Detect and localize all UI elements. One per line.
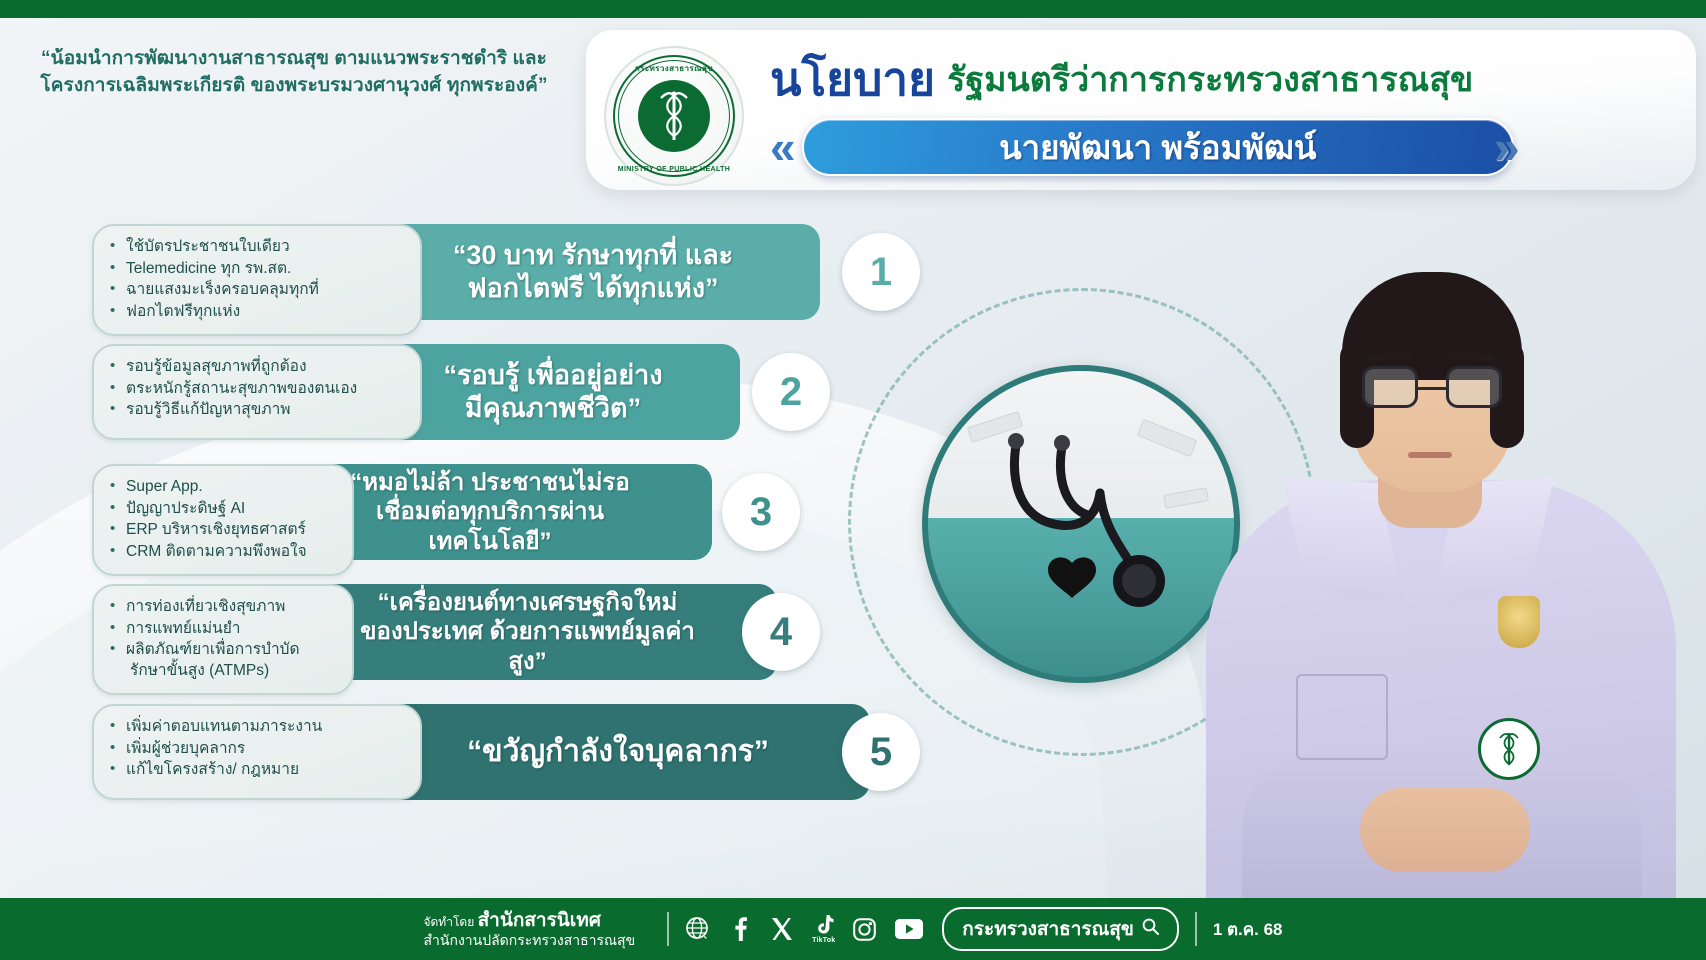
list-item: ปัญญาประดิษฐ์ AI <box>104 499 338 520</box>
footer-bar: จัดทำโดย สำนักสารนิเทศ สำนักงานปลัดกระทร… <box>0 898 1706 960</box>
caduceus-icon <box>638 80 710 152</box>
policy-bullets-4: การท่องเที่ยวเชิงสุขภาพ การแพทย์แม่นยำ ผ… <box>92 584 354 695</box>
list-item: CRM ติดตามความพึงพอใจ <box>104 542 338 563</box>
x-twitter-icon[interactable] <box>769 916 795 942</box>
list-item: ผลิตภัณฑ์ยาเพื่อการบำบัด รักษาขั้นสูง (A… <box>104 640 338 681</box>
royal-quote: “น้อมนำการพัฒนางานสาธารณสุข ตามแนวพระราช… <box>14 46 574 100</box>
footer-divider-2 <box>1195 912 1197 946</box>
list-item: ตระหนักรู้สถานะสุขภาพของตนเอง <box>104 379 406 400</box>
list-item-continuation: รักษาขั้นสูง (ATMPs) <box>126 661 338 682</box>
policy-bullets-2: รอบรู้ข้อมูลสุขภาพที่ถูกต้อง ตระหนักรู้ส… <box>92 344 422 440</box>
search-pill-label: กระทรวงสาธารณสุข <box>962 914 1134 944</box>
footer-office-name: สำนักสารนิเทศ <box>478 910 601 931</box>
list-item: ใช้บัตรประชาชนใบเดียว <box>104 237 406 258</box>
website-globe-icon[interactable] <box>685 916 711 942</box>
footer-office-sub: สำนักงานปลัดกระทรวงสาธารณสุข <box>423 932 635 949</box>
policy-quote-5: “ขวัญกำลังใจบุคลากร” <box>440 734 796 771</box>
policy-quote-2: “รอบรู้ เพื่ออยู่อย่าง มีคุณภาพชีวิต” <box>440 359 666 425</box>
tiktok-label: TikTok <box>812 937 835 944</box>
portrait-ministry-badge <box>1478 718 1540 780</box>
policy-quote-3: “หมอไม่ล้า ประชาชนไม่รอ เชื่อมต่อทุกบริก… <box>342 468 638 556</box>
list-item: Telemedicine ทุก รพ.สต. <box>104 259 406 280</box>
youtube-icon[interactable] <box>894 918 924 940</box>
policy-number-badge-5: 5 <box>842 713 920 791</box>
footer-social-icons: TikTok <box>685 914 924 944</box>
footer-divider-1 <box>667 912 669 946</box>
header-title-row: นโยบาย รัฐมนตรีว่าการกระทรวงสาธารณสุข <box>770 46 1690 102</box>
policy-quote-1: “30 บาท รักษาทุกที่ และ ฟอกไตฟรี ได้ทุกแ… <box>440 239 746 305</box>
list-item: ERP บริหารเชิงยุทธศาสตร์ <box>104 520 338 541</box>
policy-number-badge-4: 4 <box>742 593 820 671</box>
infographic-canvas: “น้อมนำการพัฒนางานสาธารณสุข ตามแนวพระราช… <box>0 0 1706 960</box>
policy-number-badge-1: 1 <box>842 233 920 311</box>
instagram-icon[interactable] <box>852 917 877 942</box>
top-green-bar <box>0 0 1706 18</box>
portrait-hair <box>1342 272 1522 380</box>
footer-organization: จัดทำโดย สำนักสารนิเทศ สำนักงานปลัดกระทร… <box>423 909 635 949</box>
tiktok-icon[interactable]: TikTok <box>812 914 835 944</box>
page-title-sub: รัฐมนตรีว่าการกระทรวงสาธารณสุข <box>947 63 1473 102</box>
logo-arc-top-text: กระทรวงสาธารณสุข <box>606 62 742 75</box>
search-icon <box>1142 918 1159 941</box>
portrait-royal-emblem <box>1498 596 1540 648</box>
policy-list: “30 บาท รักษาทุกที่ และ ฟอกไตฟรี ได้ทุกแ… <box>0 212 1000 812</box>
list-item: การแพทย์แม่นยำ <box>104 619 338 640</box>
chevron-left-icon: « <box>770 124 796 170</box>
policy-row-5: “ขวัญกำลังใจบุคลากร” เพิ่มค่าตอบแทนตามภา… <box>0 692 1000 812</box>
list-item: เพิ่มผู้ช่วยบุคลากร <box>104 739 406 760</box>
list-item: รอบรู้วิธีแก้ปัญหาสุขภาพ <box>104 400 406 421</box>
portrait-mouth <box>1408 452 1452 458</box>
search-pill[interactable]: กระทรวงสาธารณสุข <box>942 907 1179 951</box>
footer-produced-by-line: จัดทำโดย สำนักสารนิเทศ <box>423 909 635 932</box>
policy-row-4: “เครื่องยนต์ทางเศรษฐกิจใหม่ ของประเทศ ด้… <box>0 572 1000 692</box>
page-title-main: นโยบาย <box>770 56 935 102</box>
policy-number-badge-3: 3 <box>722 473 800 551</box>
ministry-logo: กระทรวงสาธารณสุข MINISTRY OF PUBLIC HEAL… <box>604 46 744 186</box>
footer-produced-by-label: จัดทำโดย <box>423 915 474 929</box>
list-item: รอบรู้ข้อมูลสุขภาพที่ถูกต้อง <box>104 357 406 378</box>
policy-bullets-1: ใช้บัตรประชาชนใบเดียว Telemedicine ทุก ร… <box>92 224 422 336</box>
policy-quote-4: “เครื่องยนต์ทางเศรษฐกิจใหม่ ของประเทศ ด้… <box>352 588 703 676</box>
portrait-glasses-right <box>1446 366 1502 408</box>
portrait-shirt-pocket <box>1296 674 1388 760</box>
policy-bullets-3: Super App. ปัญญาประดิษฐ์ AI ERP บริหารเช… <box>92 464 354 576</box>
list-item: การท่องเที่ยวเชิงสุขภาพ <box>104 597 338 618</box>
portrait-glasses-left <box>1362 366 1418 408</box>
publish-date: 1 ต.ค. 68 <box>1213 916 1283 943</box>
list-item: แก้ไขโครงสร้าง/ กฎหมาย <box>104 760 406 781</box>
policy-row-1: “30 บาท รักษาทุกที่ และ ฟอกไตฟรี ได้ทุกแ… <box>0 212 1000 332</box>
policy-number-badge-2: 2 <box>752 353 830 431</box>
facebook-icon[interactable] <box>728 916 752 942</box>
portrait-glasses-bridge <box>1418 387 1446 390</box>
policy-row-3: “หมอไม่ล้า ประชาชนไม่รอ เชื่อมต่อทุกบริก… <box>0 452 1000 572</box>
list-item: Super App. <box>104 477 338 498</box>
logo-arc-bottom-text: MINISTRY OF PUBLIC HEALTH <box>606 166 742 173</box>
list-item: ฟอกไตฟรีทุกแห่ง <box>104 302 406 323</box>
policy-row-2: “รอบรู้ เพื่ออยู่อย่าง มีคุณภาพชีวิต” รอ… <box>0 332 1000 452</box>
policy-bullets-5: เพิ่มค่าตอบแทนตามภาระงาน เพิ่มผู้ช่วยบุค… <box>92 704 422 800</box>
portrait-hands <box>1360 788 1530 872</box>
list-item: เพิ่มค่าตอบแทนตามภาระงาน <box>104 717 406 738</box>
minister-portrait <box>1146 140 1706 900</box>
list-item: ฉายแสงมะเร็งครอบคลุมทุกที่ <box>104 280 406 301</box>
